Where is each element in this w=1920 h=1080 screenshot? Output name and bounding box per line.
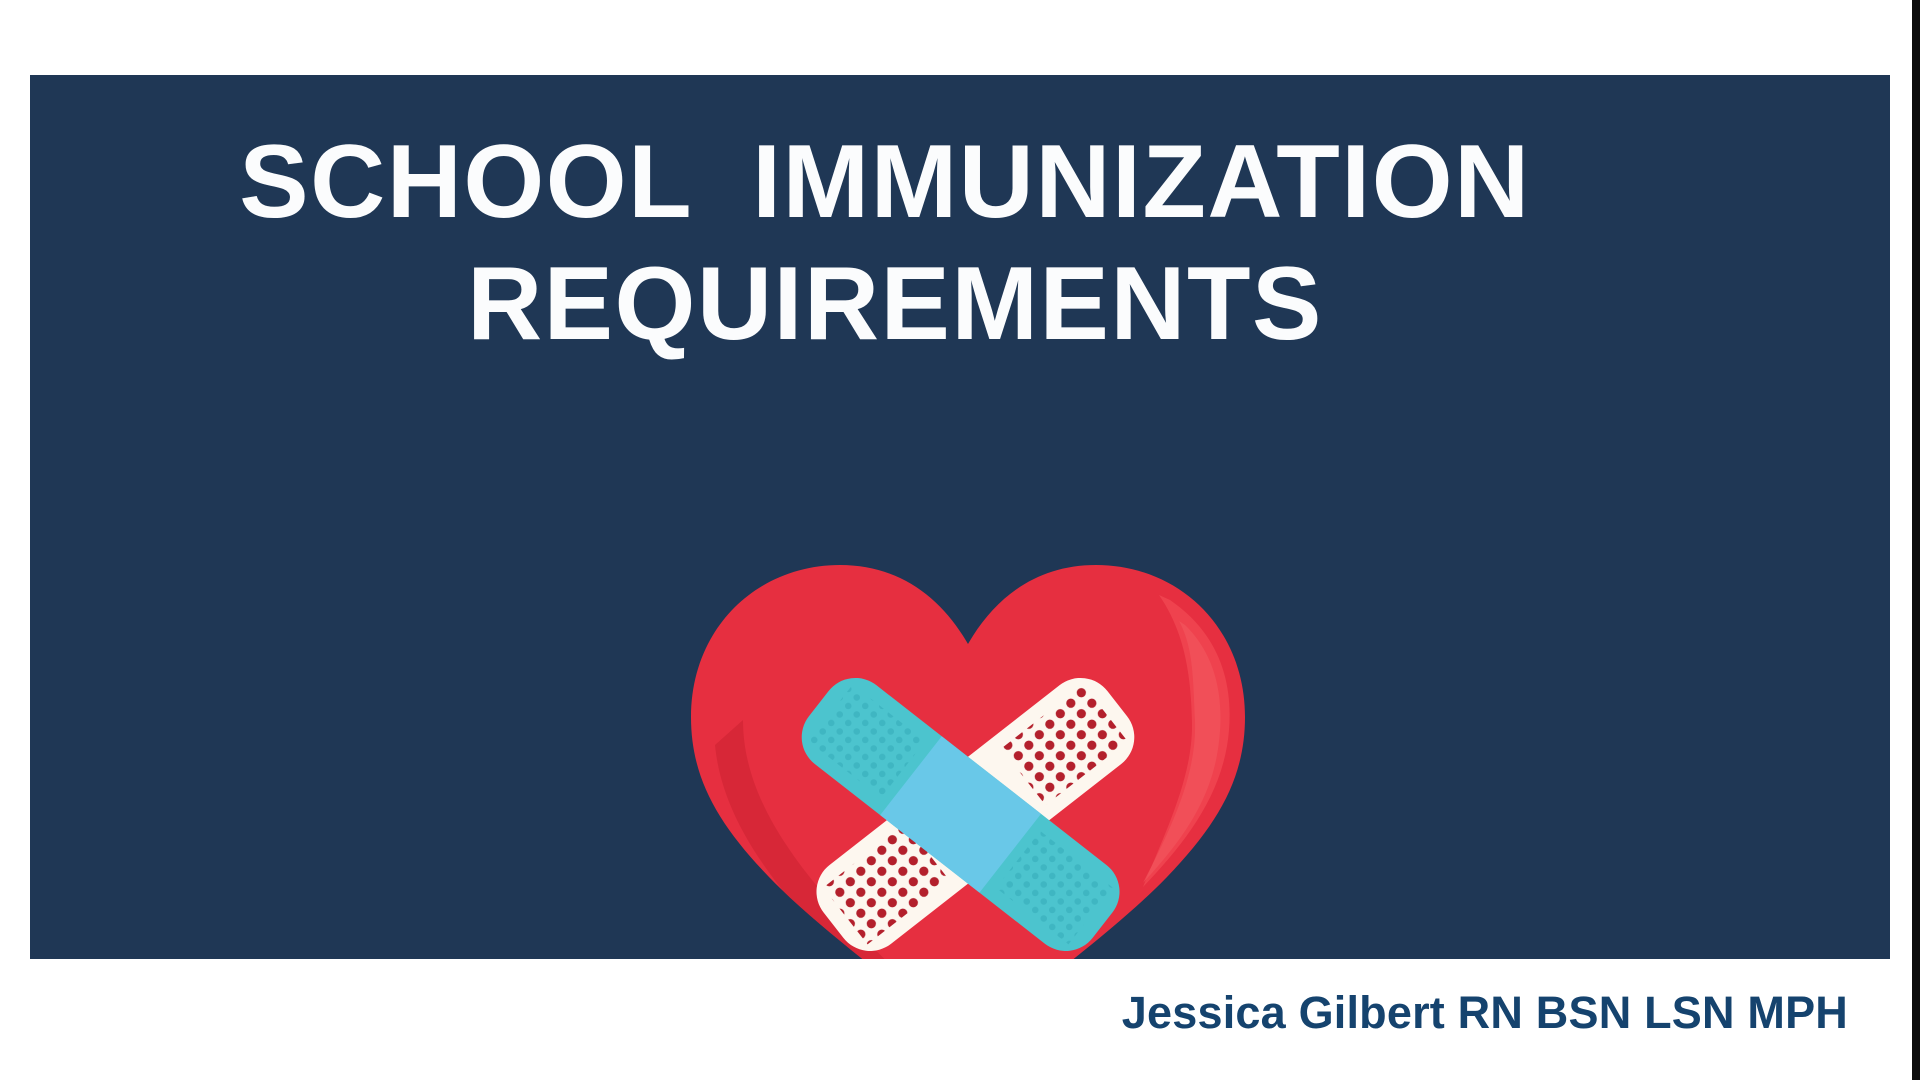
- heart-with-bandages-graphic: [673, 505, 1263, 959]
- right-edge-rule: [1912, 0, 1920, 1080]
- slide-root: SCHOOL IMMUNIZATION REQUIREMENTS: [0, 0, 1920, 1080]
- slide-title: SCHOOL IMMUNIZATION REQUIREMENTS: [30, 121, 1890, 365]
- title-line-2: REQUIREMENTS: [30, 243, 1890, 365]
- author-credit: Jessica Gilbert RN BSN LSN MPH: [0, 985, 1848, 1041]
- title-line-1: SCHOOL IMMUNIZATION: [30, 121, 1890, 243]
- title-panel: SCHOOL IMMUNIZATION REQUIREMENTS: [30, 75, 1890, 959]
